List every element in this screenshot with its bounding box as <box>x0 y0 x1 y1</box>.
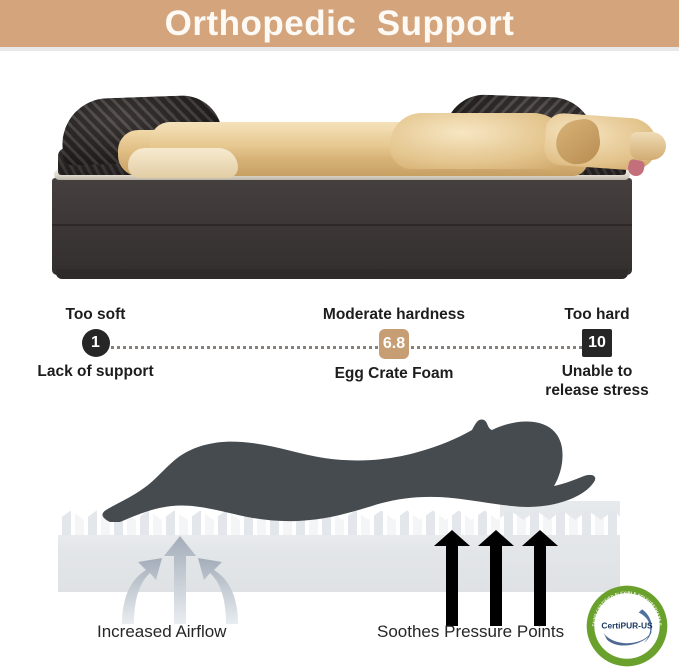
hardness-stop-moderate: Moderate hardness 6.8 Egg Crate Foam <box>300 306 488 384</box>
certipur-us-logo: CertiPUR-US CONTAINS CERTIFIED FLEXIBLE … <box>585 584 669 668</box>
label-increased-airflow: Increased Airflow <box>97 622 226 642</box>
dog-photo-paws <box>128 148 238 178</box>
dog-bed-base <box>52 178 632 275</box>
foam-cross-section-diagram: Increased Airflow Soothes Pressure Point… <box>0 406 679 668</box>
dog-bed-foot <box>56 269 628 279</box>
hardness-stop-top-label: Too soft <box>14 306 177 324</box>
hardness-badge-1: 1 <box>82 329 110 357</box>
hardness-stop-too-hard: Too hard 10 Unable to release stress <box>524 306 670 400</box>
dog-photo-snout <box>630 132 666 160</box>
dog-photo-haunch <box>390 113 570 169</box>
hardness-stop-bottom-label: Unable to release stress <box>524 363 670 400</box>
header-banner: Orthopedic Support <box>0 0 679 47</box>
label-soothes-pressure-points: Soothes Pressure Points <box>377 622 564 642</box>
hardness-stop-bottom-label: Egg Crate Foam <box>300 365 488 383</box>
pressure-point-arrows-icon <box>432 530 572 626</box>
hardness-stop-top-label: Too hard <box>524 306 670 324</box>
product-photo <box>0 56 679 296</box>
page-title: Orthopedic Support <box>165 4 515 44</box>
hardness-scale: Too soft 1 Lack of support Moderate hard… <box>0 300 679 406</box>
hardness-stop-bottom-label: Lack of support <box>14 363 177 381</box>
hardness-badge-10: 10 <box>582 329 612 357</box>
hardness-stop-too-soft: Too soft 1 Lack of support <box>14 306 177 382</box>
hardness-badge-6-8: 6.8 <box>379 329 409 359</box>
airflow-arrows-icon <box>100 528 260 628</box>
certipur-center-text: CertiPUR-US <box>601 621 653 631</box>
dog-silhouette-icon <box>72 414 612 534</box>
banner-divider <box>0 47 679 51</box>
dog-bed-seam <box>52 224 632 226</box>
hardness-stop-top-label: Moderate hardness <box>300 306 488 324</box>
